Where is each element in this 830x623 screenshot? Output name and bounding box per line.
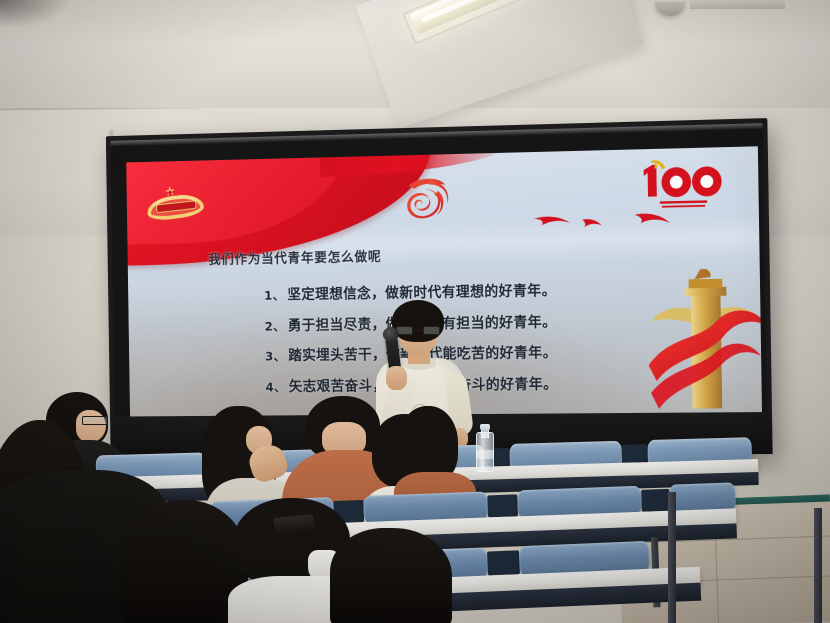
seat-support-post [814,508,822,623]
ceiling-corner-shadow [0,0,70,28]
water-bottle [476,424,494,472]
classroom-photo-scene: 我们作为当代青年要怎么做呢 1、坚定理想信念，做新时代有理想的好青年。 2、勇于… [0,0,830,623]
glasses-icon [82,416,108,425]
ceiling-vent-icon [690,0,785,9]
red-spiral-logo-icon [397,170,457,226]
list-item-number: 2、 [265,318,286,333]
slide-heading: 我们作为当代青年要怎么做呢 [208,245,382,268]
communist-youth-league-emblem-icon [147,187,204,221]
presenter-hair [392,300,444,342]
list-item-number: 4、 [265,379,286,394]
presenter-left-hand [386,366,407,390]
list-item-number: 3、 [265,349,286,364]
seat-support-post [668,492,676,623]
foreground-audience-right-hair [330,528,452,623]
glasses-icon [396,326,440,335]
flying-birds-icon [528,204,675,241]
list-item-number: 1、 [264,288,285,303]
audience-member-right-of-center [388,406,478,502]
